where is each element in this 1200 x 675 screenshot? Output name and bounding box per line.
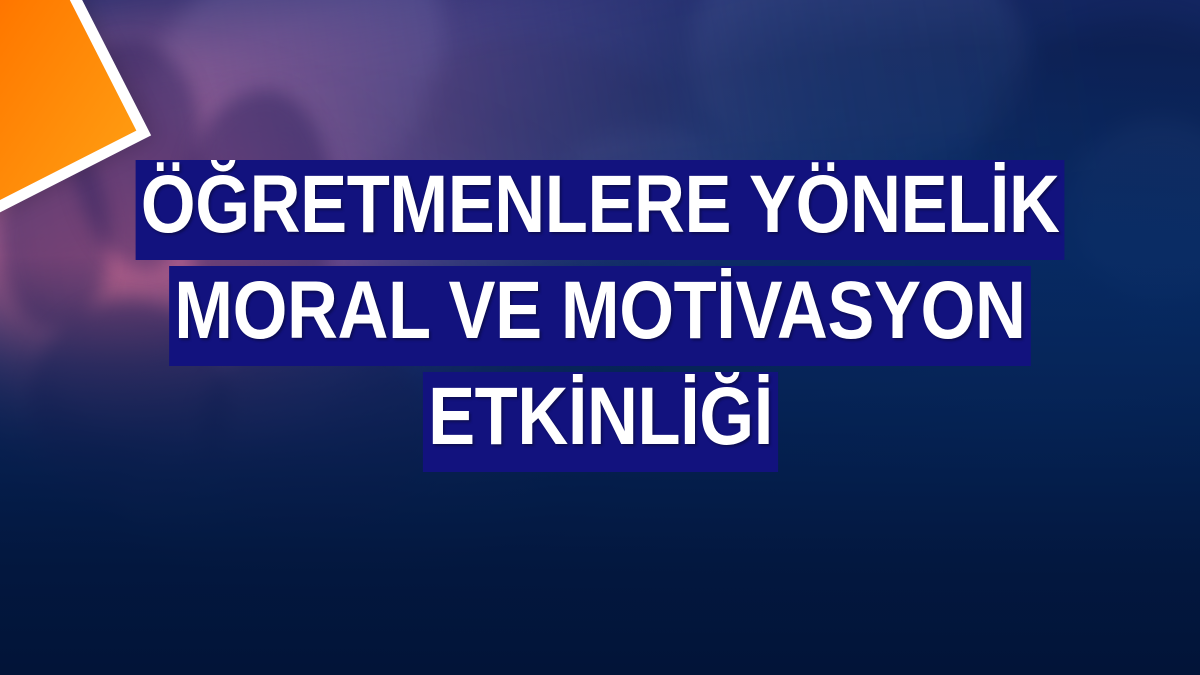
headline-line-1-text: ÖĞRETMENLERE YÖNELİK <box>135 160 1064 260</box>
headline-line: ETKİNLİĞİ <box>0 372 1200 472</box>
headline-line-3-text: ETKİNLİĞİ <box>422 372 777 472</box>
page-title: ÖĞRETMENLERE YÖNELİK MORAL VE MOTİVASYON… <box>0 160 1200 472</box>
news-banner-image: ÖĞRETMENLERE YÖNELİK MORAL VE MOTİVASYON… <box>0 0 1200 675</box>
headline-line: ÖĞRETMENLERE YÖNELİK <box>0 160 1200 260</box>
headline-line: MORAL VE MOTİVASYON <box>0 266 1200 366</box>
headline-line-2-text: MORAL VE MOTİVASYON <box>169 266 1031 366</box>
